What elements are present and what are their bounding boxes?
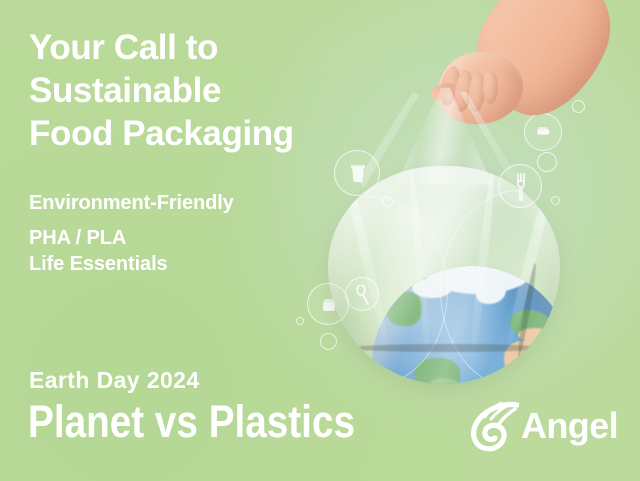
headline-line-3: Food Packaging — [29, 112, 294, 155]
subheading-group: Environment-Friendly PHA / PLA Life Esse… — [29, 190, 234, 277]
subheading-environment-friendly: Environment-Friendly — [29, 190, 234, 216]
page-title: Your Call to Sustainable Food Packaging — [29, 26, 294, 155]
logo-wordmark: Angel — [521, 405, 618, 447]
plastic-bag-icon — [300, 88, 590, 388]
swirl-spiral-icon — [467, 401, 519, 453]
subheading-life-essentials: Life Essentials — [29, 251, 234, 277]
bag-body — [328, 166, 560, 384]
headline-line-1: Your Call to — [29, 26, 294, 69]
angel-logo[interactable]: Angel — [467, 399, 619, 455]
bag-bottom-edge — [350, 344, 546, 352]
subheading-pha-pla: PHA / PLA — [29, 225, 234, 251]
headline-line-2: Sustainable — [29, 69, 294, 112]
earth-day-banner: Your Call to Sustainable Food Packaging … — [0, 0, 640, 481]
spacer — [29, 216, 234, 225]
event-label: Earth Day 2024 — [29, 367, 200, 394]
campaign-theme: Planet vs Plastics — [28, 396, 355, 448]
